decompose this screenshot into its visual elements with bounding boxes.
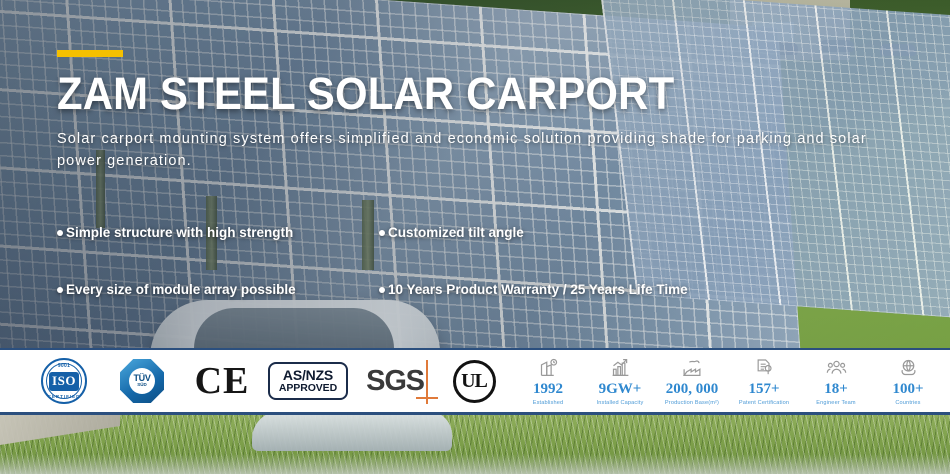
ul-label: UL [453,360,496,403]
stat-label: Countries [895,400,920,406]
page-subtitle: Solar carport mounting system offers sim… [57,128,897,173]
stat-countries: 100+ Countries [872,356,944,405]
sud-label: SÜD [137,383,147,388]
certification-logo-group: 9001 ISO CERTIFIED TÜV SÜD CE [0,358,512,404]
page-title: ZAM STEEL SOLAR CARPORT [57,71,875,116]
bottom-photo-strip [0,415,950,474]
feature-label: Every size of module array possible [66,282,296,297]
parked-car-bottom [252,415,452,451]
bar-chart-growth-icon [610,356,631,378]
stat-value: 9GW+ [599,381,642,398]
bottom-fade [0,454,950,474]
company-stats-group: 1992 Established 9GW+ Installed Capacity [512,356,950,405]
stat-label: Engineer Team [816,400,855,406]
stat-label: Production Base(m²) [665,400,719,406]
sgs-horizontal-rule [416,397,438,399]
stat-value: 18+ [824,381,848,398]
stat-label: Installed Capacity [597,400,644,406]
certification-trust-bar: 9001 ISO CERTIFIED TÜV SÜD CE [0,348,950,415]
ce-mark-badge: CE [182,362,262,400]
feature-item: Simple structure with high strength [57,225,379,240]
globe-hand-icon [898,356,919,378]
stat-established: 1992 Established [512,356,584,405]
stat-installed-capacity: 9GW+ Installed Capacity [584,356,656,405]
stat-value: 1992 [533,381,563,398]
feature-list: Simple structure with high strength Cust… [57,225,817,297]
feature-label: Simple structure with high strength [66,225,293,240]
feature-item: Customized tilt angle [379,225,817,240]
iso-certified-badge: 9001 ISO CERTIFIED [26,358,102,404]
factory-clock-icon [538,356,559,378]
asnzs-label: AS/NZS [279,368,337,383]
stat-value: 100+ [892,381,923,398]
feature-label: 10 Years Product Warranty / 25 Years Lif… [388,282,688,297]
iso-9001-label: 9001 [43,363,85,369]
accent-rule [57,50,123,57]
hero-copy-block: ZAM STEEL SOLAR CARPORT Solar carport mo… [57,50,937,173]
factory-smoke-icon [681,356,703,378]
bullet-icon [379,230,385,236]
sgs-badge: SGS [354,363,436,400]
ce-label: CE [195,362,250,400]
stat-engineer-team: 18+ Engineer Team [800,356,872,405]
document-pin-icon [754,356,774,378]
approved-label: APPROVED [279,383,337,394]
sgs-label: SGS [366,365,424,397]
feature-item: Every size of module array possible [57,282,379,297]
people-group-icon [825,356,848,378]
stat-label: Established [533,400,564,406]
stat-patent-certification: 157+ Patent Certification [728,356,800,405]
stat-production-base: 200, 000 Production Base(m²) [656,356,728,405]
as-nzs-approved-badge: AS/NZS APPROVED [262,362,354,400]
ul-listed-badge: UL [436,360,512,403]
tuv-sud-badge: TÜV SÜD [102,359,182,403]
feature-label: Customized tilt angle [388,225,524,240]
solar-carport-hero-banner: ZAM STEEL SOLAR CARPORT Solar carport mo… [0,0,950,474]
feature-item: 10 Years Product Warranty / 25 Years Lif… [379,282,817,297]
stat-value: 157+ [748,381,779,398]
bullet-icon [57,230,63,236]
stat-label: Patent Certification [739,400,789,406]
bullet-icon [57,287,63,293]
iso-certified-label: CERTIFIED [43,394,85,399]
bullet-icon [379,287,385,293]
stat-value: 200, 000 [666,381,719,398]
